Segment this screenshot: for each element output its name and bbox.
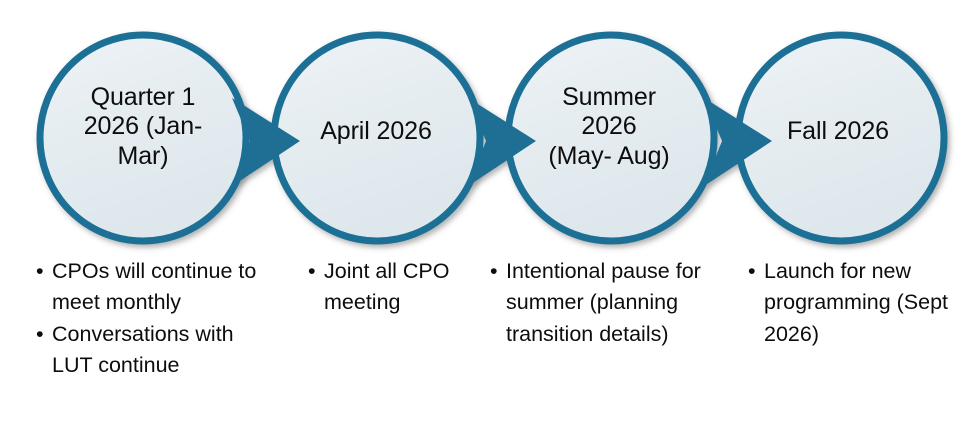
list-item-label: Launch for new programming (Sept 2026)	[764, 259, 948, 346]
list-item-label: Conversations with LUT continue	[52, 322, 234, 377]
list-item: • Conversations with LUT continue	[28, 319, 278, 382]
bullet-list-quarter-1-2026: • CPOs will continue to meet monthly • C…	[28, 256, 278, 382]
list-item-label: Intentional pause for summer (planning t…	[506, 259, 701, 346]
stage-label-summer-2026: Summer 2026 (May- Aug)	[516, 83, 702, 171]
list-item-label: CPOs will continue to meet monthly	[52, 259, 256, 314]
bullet-dot-icon: •	[308, 256, 316, 287]
stage-label-quarter-1-2026: Quarter 1 2026 (Jan- Mar)	[48, 83, 238, 171]
bullet-list-april-2026: • Joint all CPO meeting	[300, 256, 475, 319]
bullet-dot-icon: •	[490, 256, 498, 287]
list-item: • Intentional pause for summer (planning…	[482, 256, 717, 350]
bullet-list-fall-2026: • Launch for new programming (Sept 2026)	[740, 256, 966, 350]
stage-label-april-2026: April 2026	[290, 117, 462, 146]
list-item: • Launch for new programming (Sept 2026)	[740, 256, 966, 350]
bullet-dot-icon: •	[36, 319, 44, 350]
list-item: • Joint all CPO meeting	[300, 256, 475, 319]
list-item: • CPOs will continue to meet monthly	[28, 256, 278, 319]
bullet-dot-icon: •	[748, 256, 756, 287]
list-item-label: Joint all CPO meeting	[324, 259, 449, 314]
bullet-list-summer-2026: • Intentional pause for summer (planning…	[482, 256, 717, 350]
stage-label-fall-2026: Fall 2026	[752, 117, 924, 146]
process-timeline-graphic: Quarter 1 2026 (Jan- Mar) April 2026 Sum…	[0, 0, 966, 440]
bullet-dot-icon: •	[36, 256, 44, 287]
